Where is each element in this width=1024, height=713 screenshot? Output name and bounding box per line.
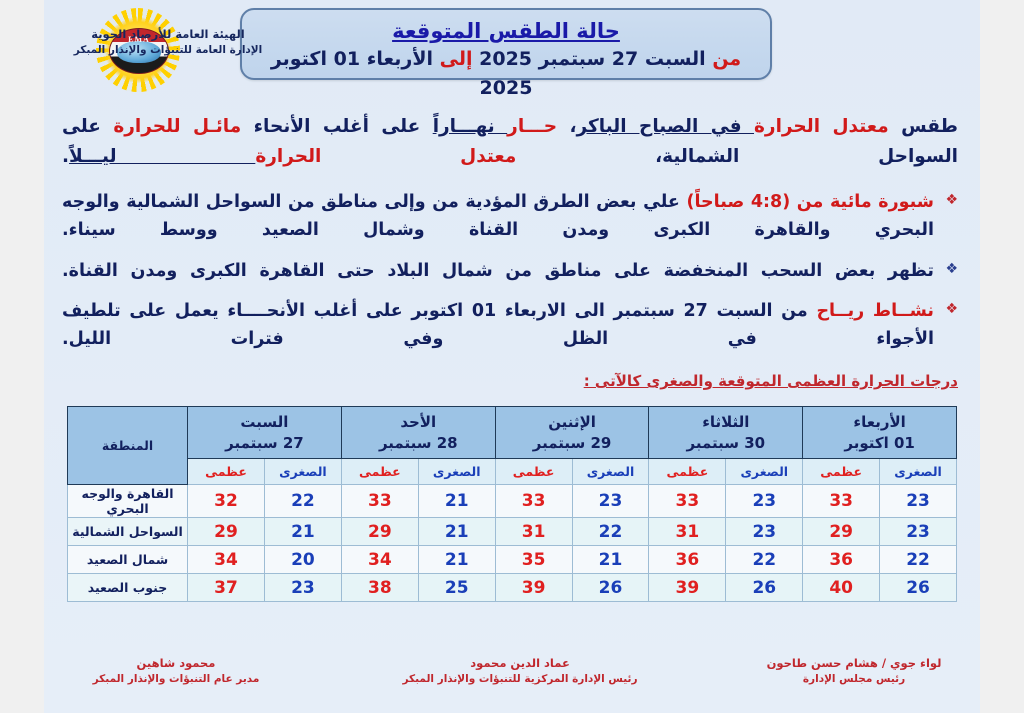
cell-min-r3-d0: 26 <box>880 574 957 602</box>
table-row: 23 33 23 33 23 33 21 33 22 32 القاهرة وا… <box>68 485 957 518</box>
cell-max-r0-d3: 33 <box>341 485 418 518</box>
cell-max-r2-d0: 36 <box>803 546 880 574</box>
diamond-bullet-icon: ❖ <box>945 191 958 209</box>
cell-max-r3-d2: 39 <box>495 574 572 602</box>
bullet-text: تظهر بعض السحب المنخفضة على مناطق من شما… <box>62 261 934 281</box>
cell-min-r0-d2: 23 <box>572 485 649 518</box>
intro-seg-11: ليـــلاً <box>69 146 255 167</box>
date-to-label: إلى <box>440 48 473 70</box>
day-date-2: 29 سبتمبر <box>498 433 647 454</box>
cell-max-r3-d1: 39 <box>649 574 726 602</box>
agency-block: الهيئة العامة للأرصاد الجوية الإدارة الع… <box>48 26 288 59</box>
signature-role: رئيس الإدارة المركزية للتنبؤات والإنذار … <box>380 672 660 687</box>
region-column-header: المنطقة <box>68 407 188 485</box>
day-date-1: 30 سبتمبر <box>651 433 800 454</box>
bullet-highlight: نشــاط ريــاح <box>816 301 934 321</box>
cell-min-r1-d1: 23 <box>726 518 803 546</box>
day-name-4: السبت <box>190 412 339 433</box>
cell-max-r3-d4: 37 <box>188 574 265 602</box>
cell-min-r3-d1: 26 <box>726 574 803 602</box>
diamond-bullet-icon: ❖ <box>945 300 958 318</box>
date-range: من السبت 27 سبتمبر 2025 إلى الأربعاء 01 … <box>242 45 770 102</box>
page-title: حالة الطقس المتوقعة <box>242 17 770 45</box>
max-header-0: عظمى <box>803 459 880 485</box>
signature-block-chairman: لواء جوي / هشام حسن طاحون رئيس مجلس الإد… <box>744 655 964 687</box>
day-name-1: الثلاثاء <box>651 412 800 433</box>
max-header-3: عظمى <box>341 459 418 485</box>
cell-max-r0-d4: 32 <box>188 485 265 518</box>
table-header-minmax-row: الصغرى عظمى الصغرى عظمى الصغرى عظمى الصغ… <box>68 459 957 485</box>
cell-max-r2-d3: 34 <box>341 546 418 574</box>
min-header-3: الصغرى <box>418 459 495 485</box>
cell-min-r3-d2: 26 <box>572 574 649 602</box>
intro-seg-3: في الصباح الباكر <box>577 116 754 137</box>
day-date-4: 27 سبتمبر <box>190 433 339 454</box>
intro-seg-8: مائـل للحرارة <box>113 116 241 137</box>
cell-min-r3-d4: 23 <box>264 574 341 602</box>
signature-name: لواء جوي / هشام حسن طاحون <box>744 655 964 672</box>
day-header-1: الثلاثاء 30 سبتمبر <box>649 407 803 459</box>
diamond-bullet-icon: ❖ <box>945 260 958 278</box>
cell-max-r1-d2: 31 <box>495 518 572 546</box>
table-row: 22 36 22 36 21 35 21 34 20 34 شمال الصعي… <box>68 546 957 574</box>
cell-max-r1-d4: 29 <box>188 518 265 546</box>
cell-min-r2-d0: 22 <box>880 546 957 574</box>
table-head: الأربعاء 01 اكتوبر الثلاثاء 30 سبتمبر ال… <box>68 407 957 485</box>
cell-max-r2-d4: 34 <box>188 546 265 574</box>
table-body: 23 33 23 33 23 33 21 33 22 32 القاهرة وا… <box>68 485 957 602</box>
intro-seg-4: ، <box>557 116 576 137</box>
day-name-2: الإثنين <box>498 412 647 433</box>
intro-seg-5: حـــار <box>507 116 557 137</box>
intro-seg-6: نهـــاراً <box>433 116 507 137</box>
agency-name: الهيئة العامة للأرصاد الجوية <box>48 26 288 43</box>
day-date-3: 28 سبتمبر <box>344 433 493 454</box>
intro-seg-10: معتدل الحرارة <box>255 146 516 167</box>
date-start: السبت 27 سبتمبر 2025 <box>479 48 706 70</box>
table-header-days-row: الأربعاء 01 اكتوبر الثلاثاء 30 سبتمبر ال… <box>68 407 957 459</box>
bullet-highlight: شبورة مائية من (4:8 صباحاً) <box>686 192 934 212</box>
cell-max-r3-d0: 40 <box>803 574 880 602</box>
min-header-1: الصغرى <box>726 459 803 485</box>
cell-max-r3-d3: 38 <box>341 574 418 602</box>
cell-min-r1-d3: 21 <box>418 518 495 546</box>
day-header-4: السبت 27 سبتمبر <box>188 407 342 459</box>
list-item: ❖ تظهر بعض السحب المنخفضة على مناطق من ش… <box>62 257 958 285</box>
region-label-2: شمال الصعيد <box>68 546 188 574</box>
page-header: EMA حالة الطقس المتوقعة من السبت 27 سبتم… <box>0 0 1024 96</box>
temperature-table: الأربعاء 01 اكتوبر الثلاثاء 30 سبتمبر ال… <box>67 406 957 602</box>
bullet-text: من السبت 27 سبتمبر الى الاربعاء 01 اكتوب… <box>62 301 934 349</box>
cell-min-r2-d3: 21 <box>418 546 495 574</box>
region-label-3: جنوب الصعيد <box>68 574 188 602</box>
weather-bulletin-page: EMA حالة الطقس المتوقعة من السبت 27 سبتم… <box>0 0 1024 713</box>
min-header-0: الصغرى <box>880 459 957 485</box>
day-date-0: 01 اكتوبر <box>805 433 954 454</box>
intro-seg-1: طقس <box>889 116 958 137</box>
min-header-2: الصغرى <box>572 459 649 485</box>
signature-block-general-manager: محمود شاهين مدير عام التنبؤات والإنذار ا… <box>56 655 296 687</box>
table-row: 26 40 26 39 26 39 25 38 23 37 جنوب الصعي… <box>68 574 957 602</box>
cell-max-r1-d3: 29 <box>341 518 418 546</box>
intro-seg-12: . <box>62 146 69 167</box>
cell-min-r1-d4: 21 <box>264 518 341 546</box>
day-name-0: الأربعاء <box>805 412 954 433</box>
cell-max-r0-d0: 33 <box>803 485 880 518</box>
agency-department: الإدارة العامة للتنبؤات والإنذار المبكر <box>48 43 288 59</box>
title-box: حالة الطقس المتوقعة من السبت 27 سبتمبر 2… <box>240 8 772 80</box>
day-header-0: الأربعاء 01 اكتوبر <box>803 407 957 459</box>
cell-max-r0-d2: 33 <box>495 485 572 518</box>
signature-role: مدير عام التنبؤات والإنذار المبكر <box>56 672 296 687</box>
cell-min-r2-d1: 22 <box>726 546 803 574</box>
max-header-2: عظمى <box>495 459 572 485</box>
day-header-2: الإثنين 29 سبتمبر <box>495 407 649 459</box>
day-name-3: الأحد <box>344 412 493 433</box>
forecast-bullet-list: ❖ شبورة مائية من (4:8 صباحاً) علي بعض ال… <box>62 188 958 366</box>
cell-min-r0-d3: 21 <box>418 485 495 518</box>
cell-min-r3-d3: 25 <box>418 574 495 602</box>
cell-min-r1-d2: 22 <box>572 518 649 546</box>
cell-min-r2-d4: 20 <box>264 546 341 574</box>
table-row: 23 29 23 31 22 31 21 29 21 29 السواحل ال… <box>68 518 957 546</box>
list-item: ❖ نشــاط ريــاح من السبت 27 سبتمبر الى ا… <box>62 297 958 354</box>
cell-max-r0-d1: 33 <box>649 485 726 518</box>
cell-min-r0-d0: 23 <box>880 485 957 518</box>
forecast-summary: طقس معتدل الحرارة في الصباح الباكر، حـــ… <box>62 112 958 172</box>
cell-max-r2-d1: 36 <box>649 546 726 574</box>
cell-max-r2-d2: 35 <box>495 546 572 574</box>
table-caption: درجات الحرارة العظمى المتوقعة والصغرى كا… <box>584 372 958 390</box>
cell-min-r0-d4: 22 <box>264 485 341 518</box>
date-from-label: من <box>712 48 741 70</box>
cell-max-r1-d0: 29 <box>803 518 880 546</box>
max-header-4: عظمى <box>188 459 265 485</box>
signature-role: رئيس مجلس الإدارة <box>744 672 964 687</box>
min-header-4: الصغرى <box>264 459 341 485</box>
max-header-1: عظمى <box>649 459 726 485</box>
cell-min-r2-d2: 21 <box>572 546 649 574</box>
list-item: ❖ شبورة مائية من (4:8 صباحاً) علي بعض ال… <box>62 188 958 245</box>
intro-seg-7: على أغلب الأنحاء <box>241 116 433 137</box>
signature-name: محمود شاهين <box>56 655 296 672</box>
cell-min-r1-d0: 23 <box>880 518 957 546</box>
intro-seg-2: معتدل الحرارة <box>754 116 889 137</box>
cell-max-r1-d1: 31 <box>649 518 726 546</box>
page-footer: لواء جوي / هشام حسن طاحون رئيس مجلس الإد… <box>56 655 964 687</box>
signature-name: عماد الدين محمود <box>380 655 660 672</box>
region-label-0: القاهرة والوجه البحري <box>68 485 188 518</box>
day-header-3: الأحد 28 سبتمبر <box>341 407 495 459</box>
signature-block-central-head: عماد الدين محمود رئيس الإدارة المركزية ل… <box>380 655 660 687</box>
region-label-1: السواحل الشمالية <box>68 518 188 546</box>
cell-min-r0-d1: 23 <box>726 485 803 518</box>
